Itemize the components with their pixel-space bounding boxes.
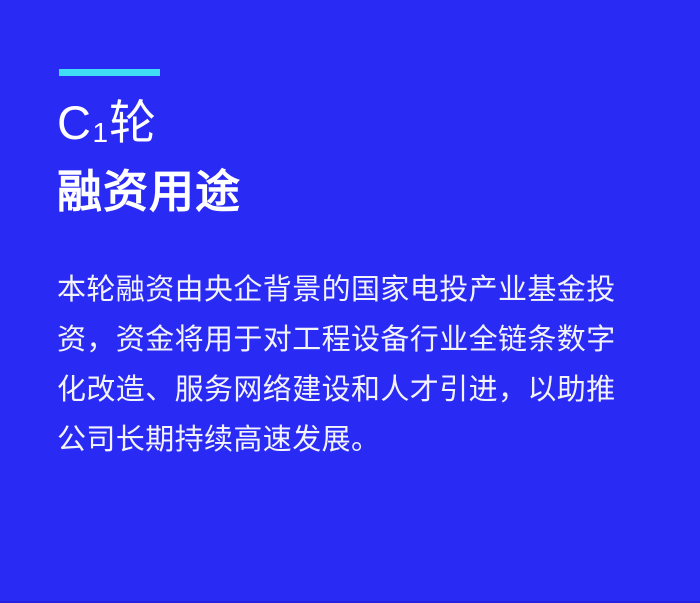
page-title: 融资用途	[57, 166, 657, 218]
body-line: 资，资金将用于对工程设备行业全链条数字	[57, 315, 657, 365]
round-title-prefix: C	[57, 96, 91, 149]
body-paragraph: 本轮融资由央企背景的国家电投产业基金投 资，资金将用于对工程设备行业全链条数字 …	[57, 265, 657, 465]
slide-root: C1轮 融资用途 本轮融资由央企背景的国家电投产业基金投 资，资金将用于对工程设…	[0, 0, 700, 603]
accent-rule-decoration	[59, 69, 160, 76]
body-line: 化改造、服务网络建设和人才引进，以助推	[57, 365, 657, 415]
round-title-subscript: 1	[91, 117, 109, 148]
round-title: C1轮	[57, 96, 657, 157]
round-title-suffix: 轮	[109, 96, 157, 149]
body-line: 本轮融资由央企背景的国家电投产业基金投	[57, 265, 657, 315]
body-line: 公司长期持续高速发展。	[57, 415, 657, 465]
heading-block: C1轮 融资用途	[57, 96, 657, 218]
